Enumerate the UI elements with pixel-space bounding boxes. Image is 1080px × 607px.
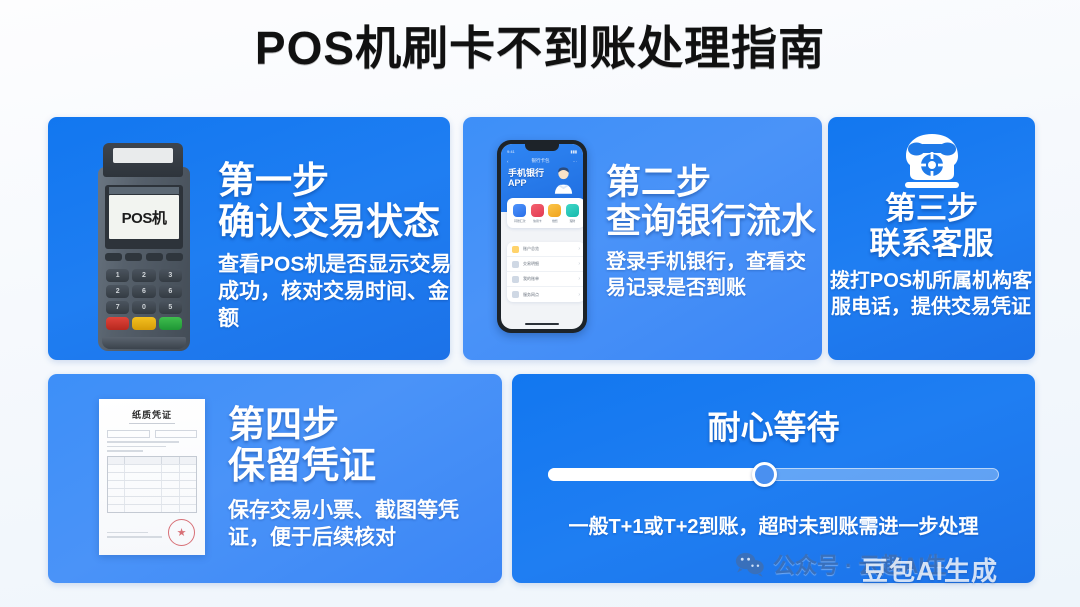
phone-navbar: ‹ 银行卡包 ··· [507,158,577,164]
step-3-heading: 第三步 联系客服 [828,192,1035,261]
receipt-table-row [108,464,196,472]
receipt-td [125,473,162,480]
pos-key: 6 [132,285,155,298]
receipt-td [125,465,162,472]
receipt-line [107,536,162,538]
pos-keypad: 1 2 3 2 6 6 7 0 5 [106,269,182,314]
pos-softkey [166,253,183,261]
phone-home-indicator [525,323,559,326]
telephone-icon [899,132,965,190]
receipt-td [108,497,125,504]
receipt-field [155,430,198,438]
step-2-heading: 第二步 查询银行流水 [606,163,821,241]
infographic-board: POS机刷卡不到账处理指南 POS机 1 2 3 2 6 6 7 0 [0,0,1080,607]
receipt-table-row [108,496,196,504]
wait-title: 耐心等待 [512,401,1035,449]
pos-key: 5 [159,301,182,314]
pos-screen-label: POS机 [122,207,167,228]
pos-confirm-key [159,317,182,330]
step-4-body: 保存交易小票、截图等凭证，便于后续核对 [228,497,473,552]
receipt-th [180,457,196,464]
step-3-heading-line1: 第三步 [828,192,1035,227]
step-2-heading-line2: 查询银行流水 [606,202,821,241]
receipt-table [107,456,197,513]
receipt-td [125,489,162,496]
pos-key: 7 [106,301,129,314]
phone-notch [525,144,559,151]
step-1-text: 第一步 确认交易状态 查看POS机是否显示交易成功，核对交易时间、金额 [218,160,458,333]
step-3-text: 第三步 联系客服 拨打POS机所属机构客服电话，提供交易凭证 [828,192,1035,320]
phone-app-title-line2: APP [508,178,527,188]
account-icon [512,246,519,253]
receipt-td [108,505,125,512]
receipt-table-row [108,488,196,496]
pos-key: 6 [159,285,182,298]
pos-key: 0 [132,301,155,314]
list-item[interactable]: 我的账单 › [507,272,583,287]
receipt-td [108,465,125,472]
quick-action-item[interactable]: 转账汇款 [511,204,528,223]
quick-action-label: 缴费 [546,219,563,223]
receipt-td [180,489,196,496]
receipt-title-rule [129,423,175,424]
phone-signal-icon: ▮▮▮ [570,149,577,154]
pos-card-slot [102,337,186,349]
receipt-td [125,505,162,512]
pos-softkey [125,253,142,261]
pos-softkey [146,253,163,261]
pos-statusbar [109,187,179,194]
receipt-td [108,489,125,496]
more-icon[interactable]: ··· [573,159,578,164]
telephone-icon-wrap [828,132,1035,195]
receipt-td [125,497,162,504]
slider-thumb[interactable] [752,462,777,487]
step-4-heading-line1: 第四步 [228,404,473,445]
quick-action-item[interactable]: 理财 [564,204,581,223]
receipt-line [107,446,166,448]
avatar [552,166,575,194]
quick-action-label: 理财 [564,219,581,223]
wechat-icon [735,552,765,577]
receipt-th [125,457,162,464]
phone-app-title-line1: 手机银行 [508,168,544,178]
chevron-right-icon: › [578,276,580,282]
list-item-label: 交易明细 [523,261,574,267]
pos-terminal-illustration: POS机 1 2 3 2 6 6 7 0 5 [90,141,200,351]
receipt-td [108,473,125,480]
pos-clear-key [132,317,155,330]
receipt-table-row [108,504,196,512]
pos-key: 1 [106,269,129,282]
phone-nav-title: 银行卡包 [532,158,550,164]
step-1-heading-line2: 确认交易状态 [218,201,458,242]
receipt-field [107,430,150,438]
receipt-td [162,473,179,480]
paper-receipt-illustration: 纸质凭证 [99,399,205,555]
detail-icon [512,261,519,268]
page-title: POS机刷卡不到账处理指南 [0,0,1080,75]
receipt-line [107,532,148,534]
step-3-body: 拨打POS机所属机构客服电话，提供交易凭证 [822,268,1040,320]
pos-function-key-row [106,317,182,330]
pos-key: 2 [106,285,129,298]
list-item[interactable]: 账户总览 › [507,242,583,257]
receipt-line [107,441,179,443]
step-2-heading-line1: 第二步 [606,163,821,202]
pos-printer [103,143,183,177]
bill-icon [512,276,519,283]
step-4-text: 第四步 保留凭证 保存交易小票、截图等凭证，便于后续核对 [228,404,473,551]
pos-paper-slot [113,148,173,163]
receipt-th [108,457,125,464]
receipt-td [162,465,179,472]
quick-action-label: 转账汇款 [511,219,528,223]
step-2-body: 登录手机银行，查看交易记录是否到账 [606,249,821,301]
step-1-heading: 第一步 确认交易状态 [218,160,458,243]
phone-clock: 9:41 [507,149,515,154]
receipt-stamp: ★ [168,519,195,546]
list-item-label: 服务网点 [523,292,574,298]
slider-fill [548,468,764,481]
receipt-td [180,497,196,504]
chevron-right-icon: › [578,261,580,267]
pos-softkey-row [105,253,183,262]
receipt-td [108,481,125,488]
step-1-heading-line1: 第一步 [218,160,458,201]
list-item-label: 我的账单 [523,276,574,282]
back-icon[interactable]: ‹ [507,159,509,164]
list-item[interactable]: 服务网点 › [507,287,583,302]
chevron-right-icon: › [578,292,580,298]
chevron-right-icon: › [578,246,580,252]
pos-key: 3 [159,269,182,282]
step-2-text: 第二步 查询银行流水 登录手机银行，查看交易记录是否到账 [606,163,821,301]
receipt-td [162,505,179,512]
wealth-icon [566,204,579,217]
step-1-body: 查看POS机是否显示交易成功，核对交易时间、金额 [218,251,458,333]
phone-menu-list: 账户总览 › 交易明细 › 我的账单 › 服务网点 › [507,242,583,302]
payment-icon [548,204,561,217]
pos-softkey [105,253,122,261]
receipt-table-row [108,472,196,480]
phone-app-title: 手机银行 APP [508,168,544,188]
step-4-heading-line2: 保留凭证 [228,445,473,486]
transfer-icon [513,204,526,217]
receipt-td [125,481,162,488]
receipt-td [180,481,196,488]
receipt-td [162,489,179,496]
wait-note: 一般T+1或T+2到账，超时未到账需进一步处理 [512,510,1035,539]
receipt-td [162,497,179,504]
pos-screen: POS机 [109,195,179,239]
receipt-line [107,450,143,452]
phone-quick-actions: 转账汇款 信用卡 缴费 理财 [507,198,583,228]
wait-progress-slider[interactable] [548,468,999,481]
quick-action-item[interactable]: 信用卡 [529,204,546,223]
list-item[interactable]: 交易明细 › [507,257,583,272]
receipt-td [180,505,196,512]
pos-key: 2 [132,269,155,282]
receipt-td [180,473,196,480]
receipt-table-head [108,457,196,464]
phone-screen: 9:41 ▮▮▮ ‹ 银行卡包 ··· 手机银行 APP [501,144,583,329]
pos-screen-frame: POS机 [105,185,183,249]
receipt-td [162,481,179,488]
receipt-th [162,457,179,464]
receipt-footer-lines [107,532,165,541]
credit-card-icon [531,204,544,217]
receipt-table-row [108,480,196,488]
branch-icon [512,291,519,298]
quick-action-label: 信用卡 [529,219,546,223]
receipt-td [180,465,196,472]
pos-cancel-key [106,317,129,330]
list-item-label: 账户总览 [523,246,574,252]
receipt-field-row [107,430,197,438]
watermark-overlay-text: 豆包AI生成 [862,551,998,588]
quick-action-item[interactable]: 缴费 [546,204,563,223]
step-4-heading: 第四步 保留凭证 [228,404,473,487]
mobile-phone-illustration: 9:41 ▮▮▮ ‹ 银行卡包 ··· 手机银行 APP [497,140,587,333]
step-3-heading-line2: 联系客服 [828,227,1035,262]
receipt-title: 纸质凭证 [107,408,197,421]
